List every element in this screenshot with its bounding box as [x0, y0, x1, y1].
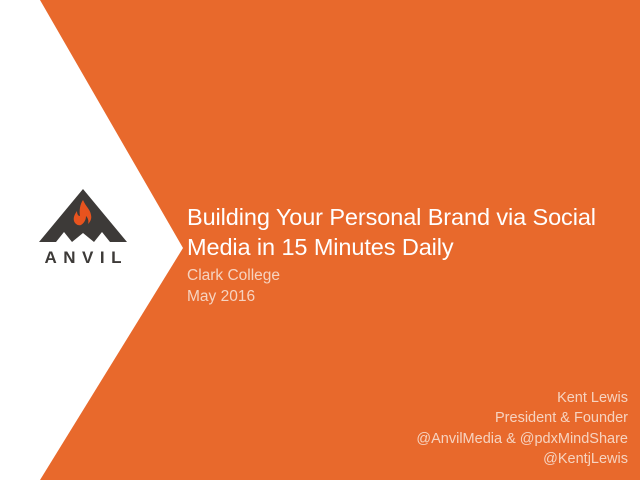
- subtitle-line-venue: Clark College: [187, 266, 627, 287]
- anvil-mountain-flame-icon: [32, 188, 134, 246]
- slide-subtitle: Clark College May 2016: [187, 266, 627, 307]
- subtitle-line-date: May 2016: [187, 287, 627, 308]
- presenter-company-handles: @AnvilMedia & @pdxMindShare: [416, 429, 628, 450]
- title-slide: ANVIL Building Your Personal Brand via S…: [0, 0, 640, 480]
- slide-title: Building Your Personal Brand via Social …: [187, 202, 627, 262]
- presenter-credits: Kent Lewis President & Founder @AnvilMed…: [416, 388, 628, 470]
- title-block: Building Your Personal Brand via Social …: [187, 202, 627, 307]
- presenter-role: President & Founder: [416, 408, 628, 429]
- presenter-personal-handle: @KentjLewis: [416, 449, 628, 470]
- anvil-logo: ANVIL: [32, 188, 134, 276]
- presenter-name: Kent Lewis: [416, 388, 628, 409]
- anvil-wordmark: ANVIL: [32, 249, 134, 266]
